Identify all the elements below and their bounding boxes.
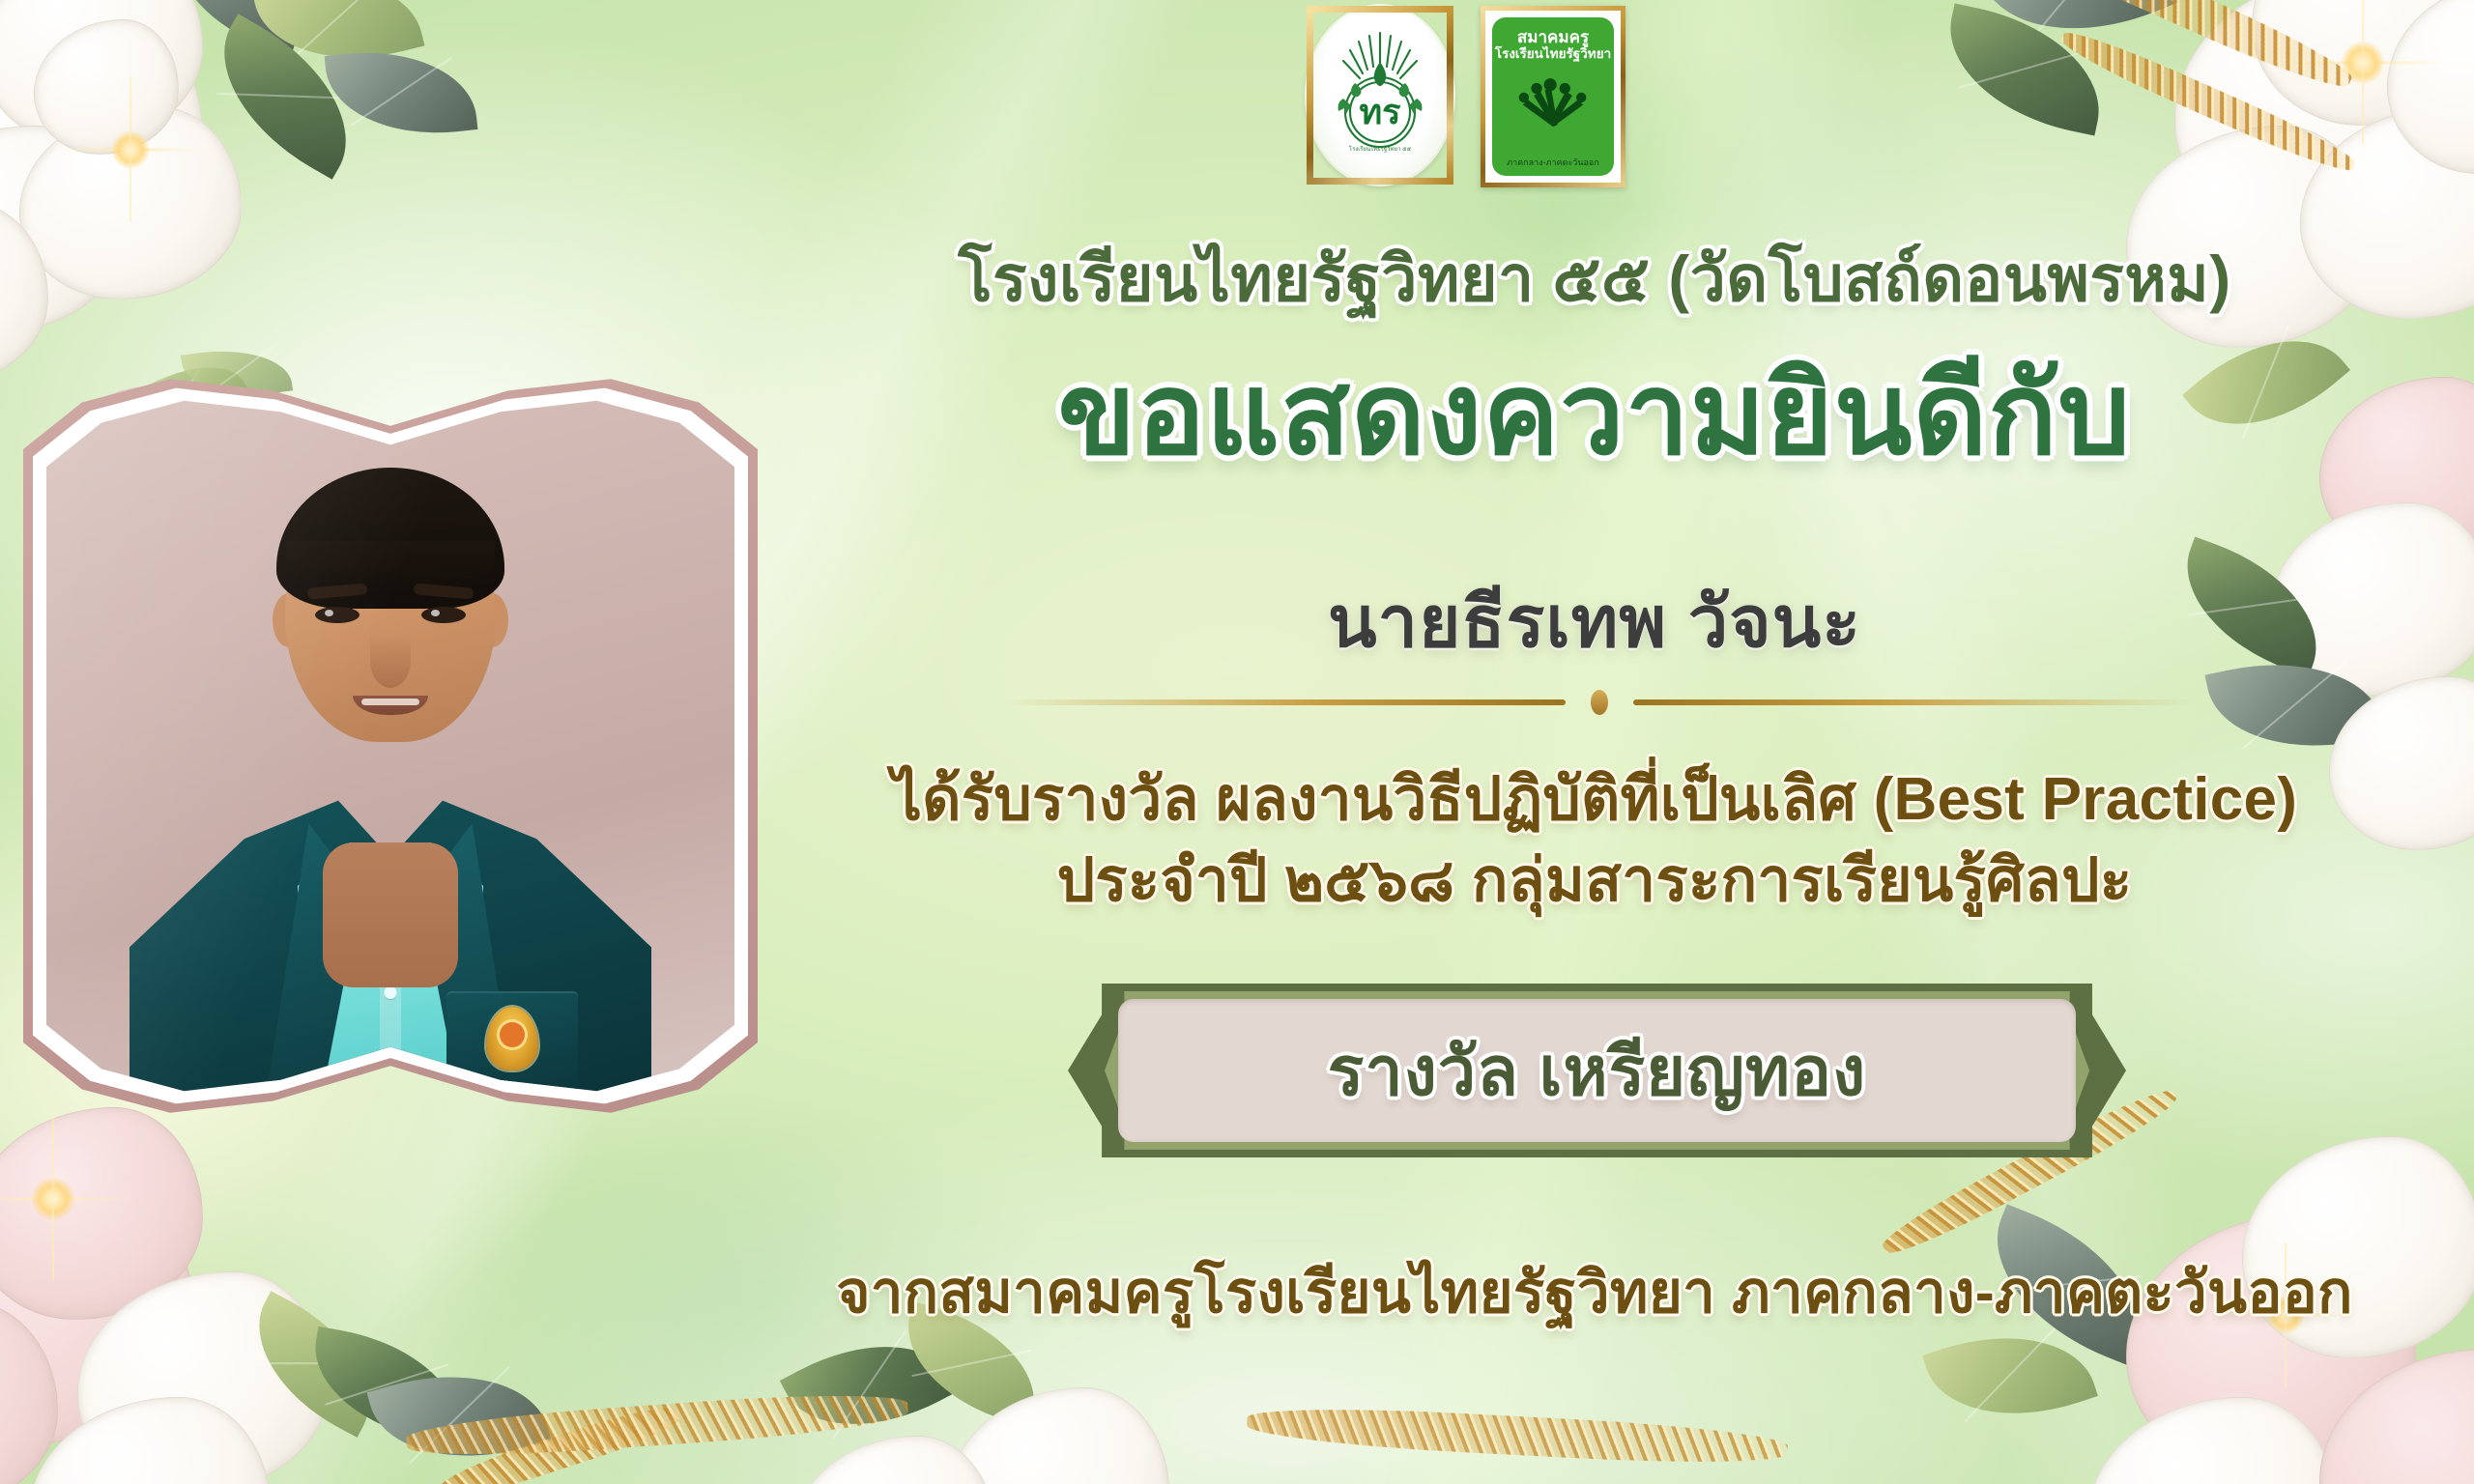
gold-divider-icon [1005,682,2194,723]
recipient-name: นายธีรเทพ วัจนะ [773,564,2416,678]
text-content-column: โรงเรียนไทยรัฐวิทยา ๕๕ (วัดโบสถ์ดอนพรหม)… [773,0,2474,1484]
congratulation-heading: ขอแสดงความยินดีกับ [773,354,2416,476]
issuer-line: จากสมาคมครูโรงเรียนไทยรัฐวิทยา ภาคกลาง-ภ… [773,1246,2416,1338]
school-uniform-badge-icon [486,1007,538,1070]
recipient-photo [46,379,734,1113]
medal-label: รางวัล เหรียญทอง [1328,1017,1866,1125]
diamond-ornament-icon [1182,1009,1226,1053]
diamond-ornament-icon [1968,1009,2012,1053]
diamond-ornament-icon [1968,1080,2012,1125]
portrait-illustration [46,379,734,1113]
award-description-line-2: ประจำปี ๒๕๖๘ กลุ่มสาระการเรียนรู้ศิลปะ [773,833,2416,927]
diamond-ornament-icon [1182,1080,1226,1125]
congratulation-banner: ทร โรงเรียนไทยรัฐวิทยา ๕๕ สมาคมครู โรงเร… [0,0,2474,1484]
recipient-photo-frame [23,356,758,1136]
medal-plaque: รางวัล เหรียญทอง [1068,984,2126,1157]
school-name-heading: โรงเรียนไทยรัฐวิทยา ๕๕ (วัดโบสถ์ดอนพรหม) [773,228,2416,329]
